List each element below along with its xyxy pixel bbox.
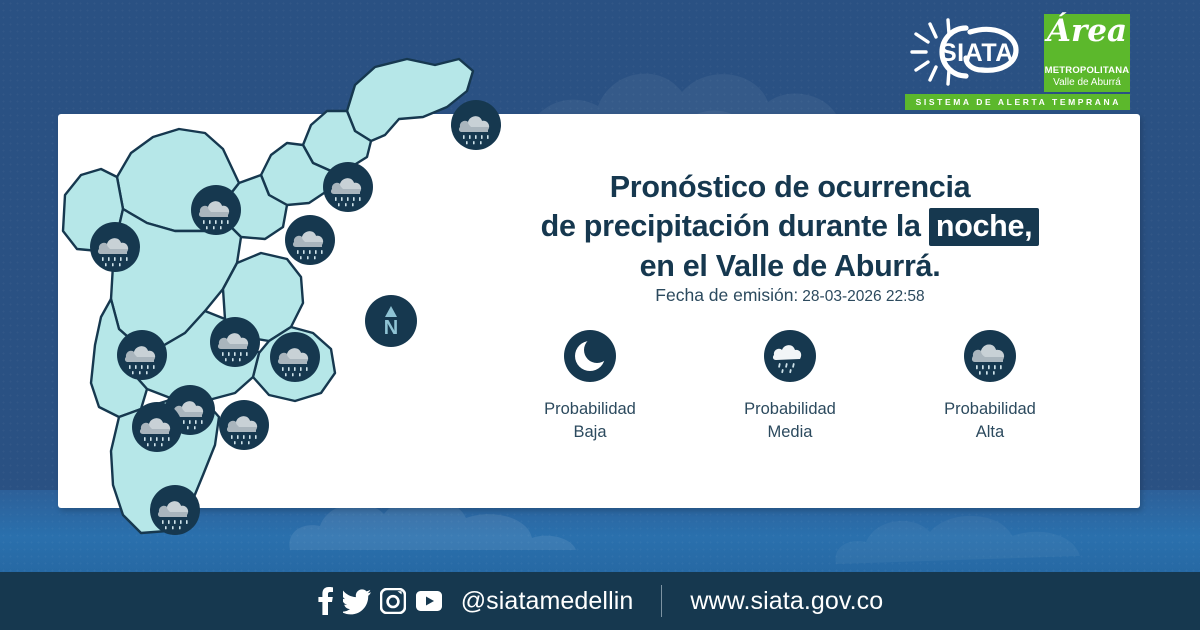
headline-line-3: en el Valle de Aburrá. <box>480 247 1100 286</box>
marker-girardota[interactable] <box>323 162 373 212</box>
website-url[interactable]: www.siata.gov.co <box>690 587 883 616</box>
legend-label-baja: Probabilidad Baja <box>544 398 636 445</box>
marker-medellin[interactable] <box>210 317 260 367</box>
marker-envigado[interactable] <box>270 332 320 382</box>
twitter-icon[interactable] <box>343 587 371 615</box>
legend-label-alta: Probabilidad Alta <box>944 398 1036 445</box>
social-icons <box>317 587 443 615</box>
legend-label-media: Probabilidad Media <box>744 398 836 445</box>
facebook-icon[interactable] <box>317 587 334 615</box>
emission-value: 28-03-2026 22:58 <box>802 288 924 305</box>
legend-media-line1: Probabilidad <box>744 398 836 421</box>
footer-bar: @siatamedellin www.siata.gov.co <box>0 572 1200 630</box>
legend-baja-line2: Baja <box>544 421 636 444</box>
instagram-icon[interactable] <box>380 588 406 614</box>
siata-logo: SIATA <box>904 14 1034 90</box>
youtube-icon[interactable] <box>415 590 443 612</box>
social-handle[interactable]: @siatamedellin <box>461 587 634 616</box>
legend-alta-line1: Probabilidad <box>944 398 1036 421</box>
headline-line-2-text: de precipitación durante la <box>541 209 921 243</box>
area-metropolitana-logo: Área METROPOLITANA Valle de Aburrá <box>1044 14 1130 92</box>
footer-divider <box>661 585 662 617</box>
siata-wordmark: SIATA <box>940 39 1014 68</box>
infographic-canvas: SIATA Área METROPOLITANA Valle de Aburrá… <box>0 0 1200 630</box>
marker-san-pedro[interactable] <box>90 222 140 272</box>
cloud-heavy-rain-icon <box>964 330 1016 382</box>
compass-north-icon: N <box>365 295 417 347</box>
tagline-banner: SISTEMA DE ALERTA TEMPRANA <box>905 94 1130 110</box>
headline-highlight: noche, <box>929 208 1040 246</box>
legend-alta-line2: Alta <box>944 421 1036 444</box>
marker-bello[interactable] <box>191 185 241 235</box>
legend-baja-line1: Probabilidad <box>544 398 636 421</box>
valle-de-aburra-map: N <box>55 45 475 565</box>
legend-item-media: Probabilidad Media <box>705 330 875 445</box>
legend-item-alta: Probabilidad Alta <box>905 330 1075 445</box>
marker-copacabana[interactable] <box>285 215 335 265</box>
headline-line-1: Pronóstico de ocurrencia <box>480 168 1100 207</box>
emission-label: Fecha de emisión: <box>655 285 798 305</box>
am-line-1: METROPOLITANA <box>1045 66 1130 77</box>
emission-date: Fecha de emisión:28-03-2026 22:58 <box>480 285 1100 306</box>
legend-item-baja: Probabilidad Baja <box>505 330 675 445</box>
headline-line-2: de precipitación durante la noche, <box>480 207 1100 246</box>
moon-icon <box>564 330 616 382</box>
marker-san-jeronimo[interactable] <box>117 330 167 380</box>
cloud-moon-rain-icon <box>764 330 816 382</box>
marker-caldas[interactable] <box>150 485 200 535</box>
legend-media-line2: Media <box>744 421 836 444</box>
marker-barbosa[interactable] <box>451 100 501 150</box>
logo-group: SIATA Área METROPOLITANA Valle de Aburrá <box>904 14 1130 92</box>
marker-la-estrella[interactable] <box>132 402 182 452</box>
probability-legend: Probabilidad Baja Probabilidad Media <box>490 330 1090 445</box>
marker-sabaneta[interactable] <box>219 400 269 450</box>
area-script-text: Área <box>1044 16 1130 47</box>
page-title: Pronóstico de ocurrencia de precipitació… <box>480 168 1100 286</box>
compass-label: N <box>384 317 398 339</box>
am-line-2: Valle de Aburrá <box>1053 77 1121 89</box>
